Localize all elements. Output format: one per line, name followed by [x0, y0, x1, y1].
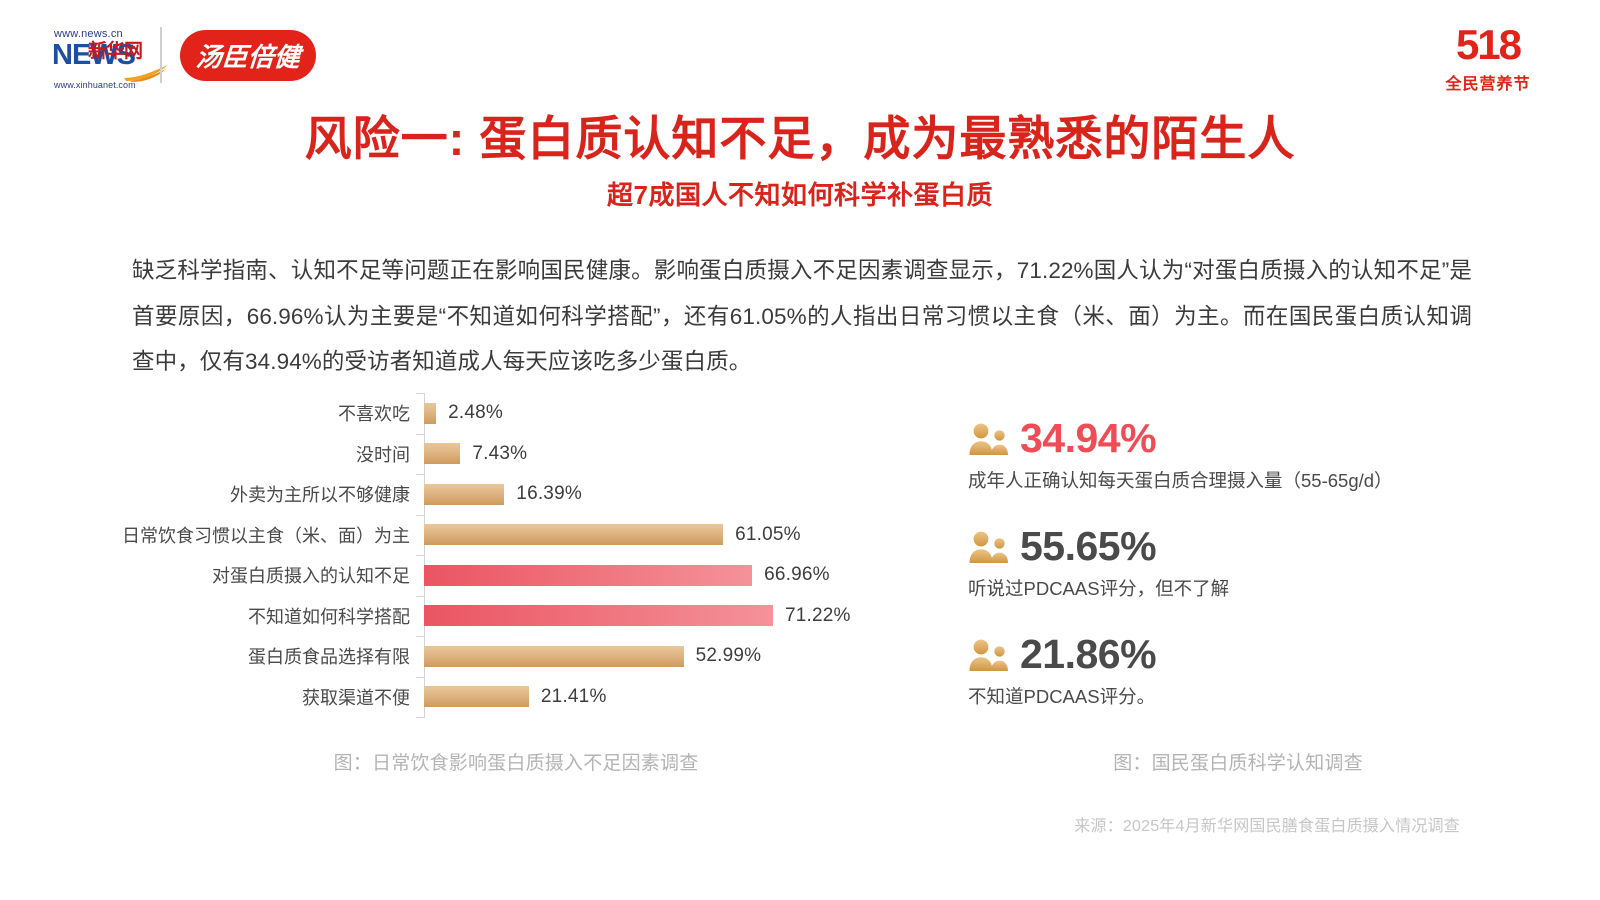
stats-panel: 34.94%成年人正确认知每天蛋白质合理摄入量（55-65g/d）55.65%听…: [968, 418, 1508, 742]
bar-row: 没时间7.43%: [96, 434, 936, 475]
bar-row: 日常饮食习惯以主食（米、面）为主61.05%: [96, 515, 936, 556]
axis-tick: [416, 434, 425, 435]
bar-value-label: 21.41%: [541, 686, 607, 708]
bar-fill: [424, 565, 752, 586]
festival-logo-518: 518 全民营养节: [1424, 24, 1552, 96]
page-header: www.news.cn NEWS 新华网 www.xinhuanet.com 汤…: [0, 0, 1600, 112]
people-icon: [968, 422, 1010, 456]
axis-tick: [416, 596, 425, 597]
bar-track: 66.96%: [424, 555, 936, 596]
bar-fill: [424, 484, 504, 505]
bar-category-label: 获取渠道不便: [96, 684, 424, 710]
bar-category-label: 蛋白质食品选择有限: [96, 643, 424, 669]
bar-row: 蛋白质食品选择有限52.99%: [96, 636, 936, 677]
stat-caption-text: 听说过PDCAAS评分，但不了解: [968, 575, 1508, 601]
bar-fill: [424, 524, 723, 545]
bar-category-label: 日常饮食习惯以主食（米、面）为主: [96, 522, 424, 548]
brand-logo-byhealth: 汤臣倍健: [180, 30, 316, 81]
xinhua-logo: www.news.cn NEWS 新华网 www.xinhuanet.com: [52, 28, 170, 90]
bar-chart: 不喜欢吃2.48%没时间7.43%外卖为主所以不够健康16.39%日常饮食习惯以…: [96, 393, 936, 733]
bar-row: 对蛋白质摄入的认知不足66.96%: [96, 555, 936, 596]
bar-fill: [424, 605, 773, 626]
bar-fill: [424, 403, 436, 424]
stat-value: 34.94%: [1020, 418, 1156, 459]
stat-caption-text: 不知道PDCAAS评分。: [968, 683, 1508, 709]
bar-value-label: 7.43%: [472, 443, 527, 465]
bar-track: 21.41%: [424, 677, 936, 718]
stat-block: 55.65%听说过PDCAAS评分，但不了解: [968, 526, 1508, 601]
infographic-page: www.news.cn NEWS 新华网 www.xinhuanet.com 汤…: [0, 0, 1600, 900]
festival-subtitle: 全民营养节: [1424, 70, 1552, 94]
title-block: 风险一: 蛋白质认知不足，成为最熟悉的陌生人 超7成国人不知如何科学补蛋白质: [0, 112, 1600, 212]
bar-value-label: 16.39%: [516, 483, 582, 505]
bar-track: 7.43%: [424, 434, 936, 475]
bar-row: 不喜欢吃2.48%: [96, 393, 936, 434]
people-icon: [968, 638, 1010, 672]
bar-value-label: 66.96%: [764, 564, 830, 586]
axis-tick: [416, 717, 425, 718]
bar-category-label: 不知道如何科学搭配: [96, 603, 424, 629]
stat-head: 55.65%: [968, 526, 1508, 567]
bar-category-label: 外卖为主所以不够健康: [96, 481, 424, 507]
stat-caption-text: 成年人正确认知每天蛋白质合理摄入量（55-65g/d）: [968, 467, 1508, 493]
stat-block: 34.94%成年人正确认知每天蛋白质合理摄入量（55-65g/d）: [968, 418, 1508, 493]
source-note: 来源：2025年4月新华网国民膳食蛋白质摄入情况调查: [1074, 812, 1460, 836]
axis-tick: [416, 474, 425, 475]
bar-value-label: 71.22%: [785, 605, 851, 627]
bar-row: 获取渠道不便21.41%: [96, 677, 936, 718]
bar-row: 外卖为主所以不够健康16.39%: [96, 474, 936, 515]
axis-tick: [416, 636, 425, 637]
bar-fill: [424, 646, 684, 667]
bar-value-label: 2.48%: [448, 402, 503, 424]
bar-category-label: 对蛋白质摄入的认知不足: [96, 562, 424, 588]
bar-category-label: 不喜欢吃: [96, 400, 424, 426]
bar-fill: [424, 686, 529, 707]
page-title: 风险一: 蛋白质认知不足，成为最熟悉的陌生人: [0, 112, 1600, 166]
bar-value-label: 52.99%: [696, 645, 762, 667]
people-icon: [968, 530, 1010, 564]
axis-tick: [416, 515, 425, 516]
axis-tick: [416, 393, 425, 394]
stats-caption: 图：国民蛋白质科学认知调查: [968, 748, 1508, 775]
bar-fill: [424, 443, 460, 464]
bar-rows-container: 不喜欢吃2.48%没时间7.43%外卖为主所以不够健康16.39%日常饮食习惯以…: [96, 393, 936, 717]
stat-head: 21.86%: [968, 634, 1508, 675]
xinhua-chinese-name: 新华网: [88, 42, 142, 61]
festival-number: 518: [1424, 24, 1552, 66]
chart-caption: 图：日常饮食影响蛋白质摄入不足因素调查: [96, 748, 936, 775]
stat-head: 34.94%: [968, 418, 1508, 459]
bar-track: 52.99%: [424, 636, 936, 677]
bar-category-label: 没时间: [96, 441, 424, 467]
logo-divider: [160, 27, 162, 83]
stat-value: 21.86%: [1020, 634, 1156, 675]
bar-track: 2.48%: [424, 393, 936, 434]
bar-track: 61.05%: [424, 515, 936, 556]
bar-row: 不知道如何科学搭配71.22%: [96, 596, 936, 637]
axis-tick: [416, 555, 425, 556]
stat-value: 55.65%: [1020, 526, 1156, 567]
bar-value-label: 61.05%: [735, 524, 801, 546]
axis-tick: [416, 677, 425, 678]
body-paragraph: 缺乏科学指南、认知不足等问题正在影响国民健康。影响蛋白质摄入不足因素调查显示，7…: [132, 248, 1472, 385]
bar-track: 16.39%: [424, 474, 936, 515]
brand-logo-label: 汤臣倍健: [195, 37, 302, 74]
stat-block: 21.86%不知道PDCAAS评分。: [968, 634, 1508, 709]
xinhua-url-bottom: www.xinhuanet.com: [54, 80, 136, 90]
bar-track: 71.22%: [424, 596, 936, 637]
page-subtitle: 超7成国人不知如何科学补蛋白质: [0, 175, 1600, 212]
